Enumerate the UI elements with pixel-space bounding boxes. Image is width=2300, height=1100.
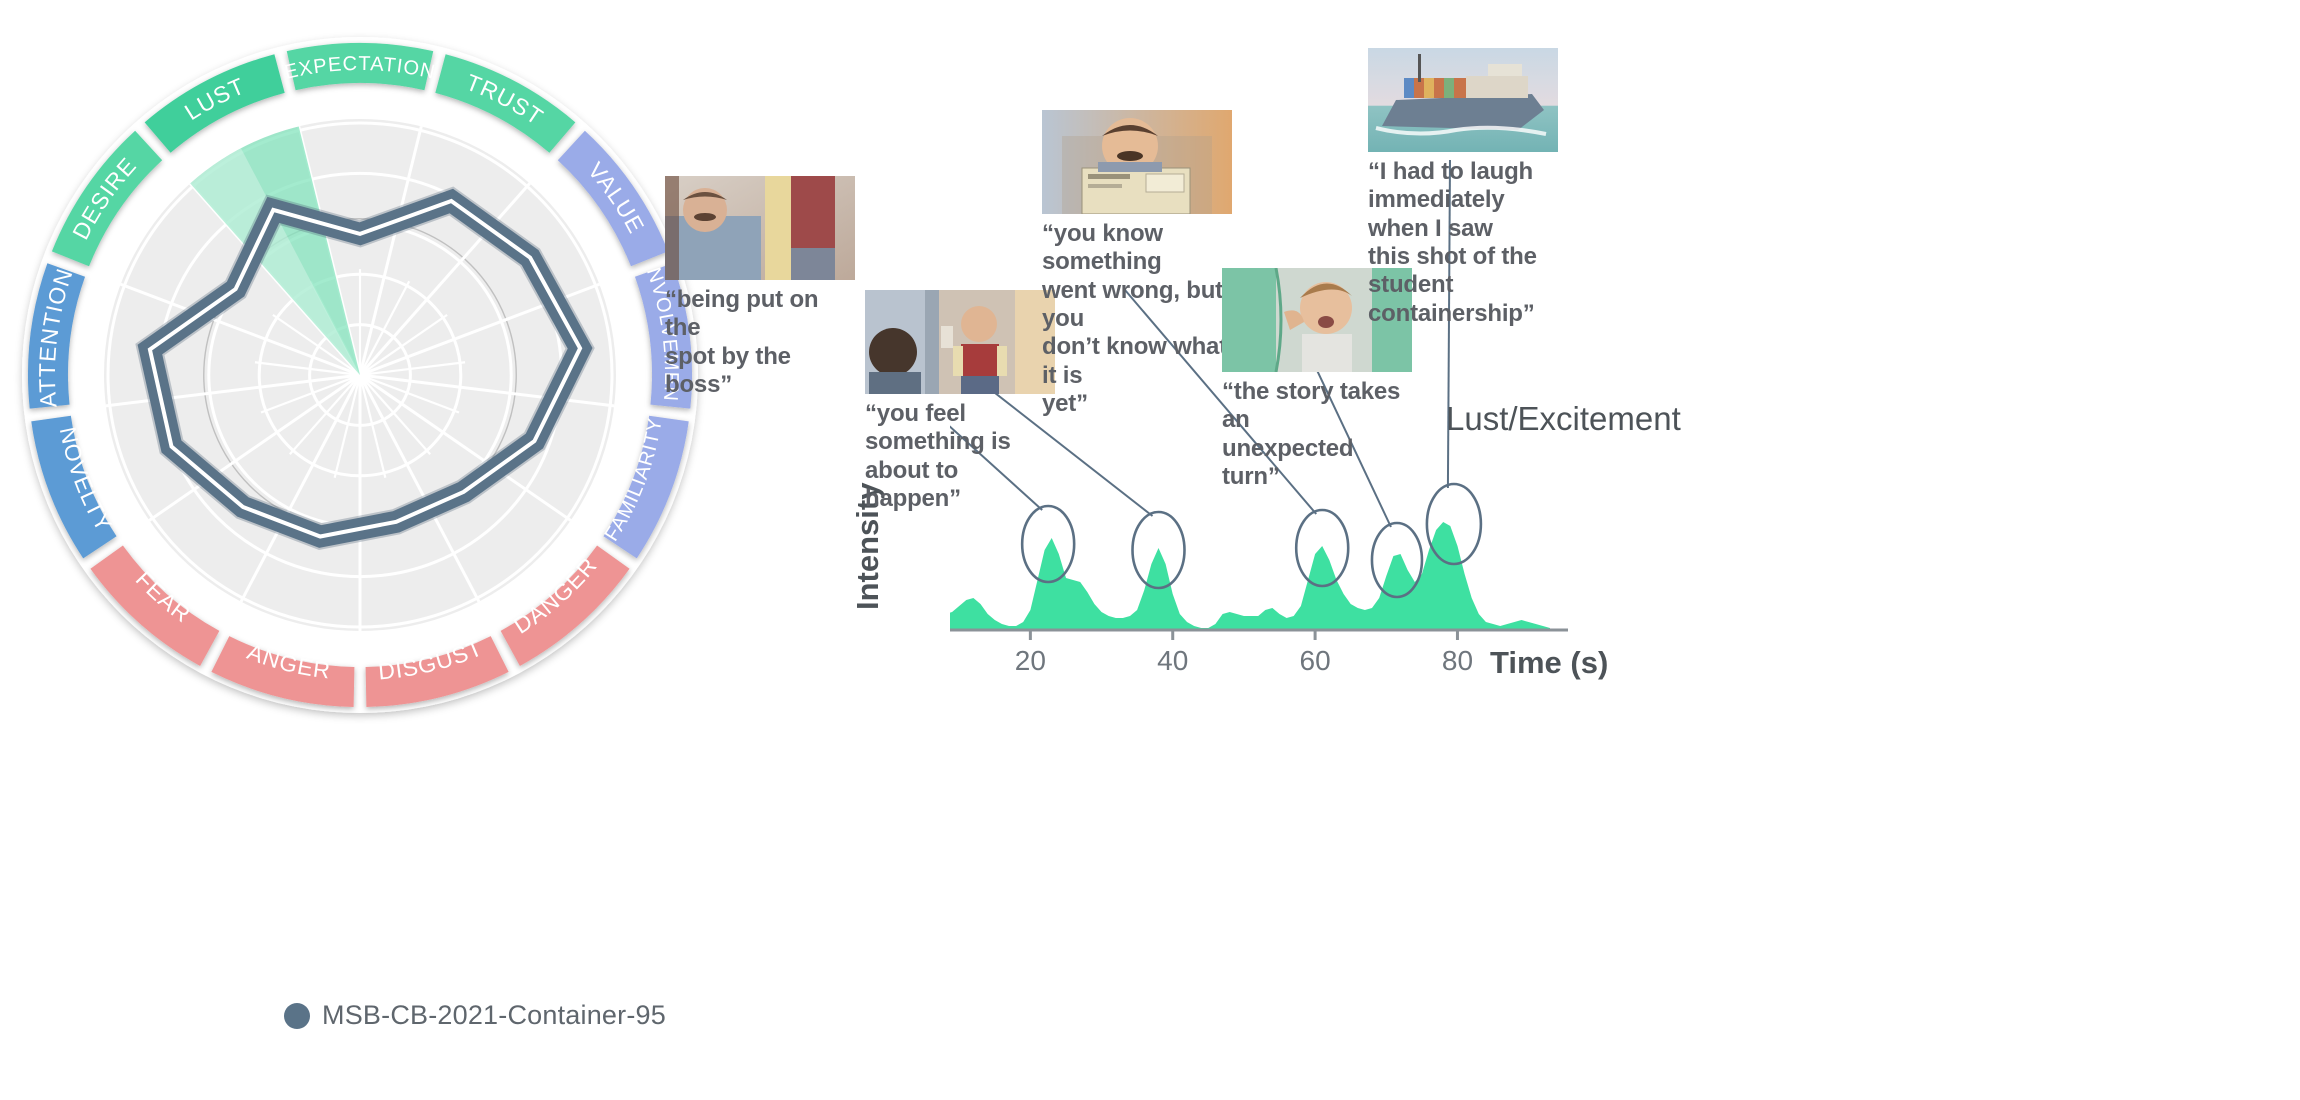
- callout-elevator[interactable]: “you feel something is about to happen”: [865, 290, 1055, 513]
- callout-boss[interactable]: “being put on the spot by the boss”: [665, 176, 855, 399]
- callout-boss-caption: “being put on the spot by the boss”: [665, 286, 855, 399]
- timeline-chart-panel: 020406080100020406080 Lust/Excitement Ti…: [950, 0, 2300, 1100]
- callout-ship-caption: “I had to laugh immediately when I saw t…: [1368, 158, 1558, 328]
- x-tick-label: 60: [1300, 645, 1331, 676]
- radar-legend: MSB-CB-2021-Container-95: [0, 1000, 950, 1031]
- chart-title: Lust/Excitement: [1446, 400, 1681, 438]
- thumb-ship-icon: [1368, 48, 1558, 152]
- callout-ship[interactable]: “I had to laugh immediately when I saw t…: [1368, 48, 1558, 328]
- callout-paperwork-caption: “you know something went wrong, but you …: [1042, 220, 1232, 418]
- radar-chart-panel: EXPECTATIONTRUSTVALUEINVOLVEMENTFAMILIAR…: [0, 0, 950, 1100]
- x-tick-label: 40: [1157, 645, 1188, 676]
- emotion-radar-chart: EXPECTATIONTRUSTVALUEINVOLVEMENTFAMILIAR…: [0, 0, 950, 1000]
- x-axis-label: Time (s): [1490, 645, 1608, 681]
- callout-paperwork[interactable]: “you know something went wrong, but you …: [1042, 110, 1232, 418]
- area-series: [950, 522, 1550, 630]
- legend-swatch: [284, 1003, 310, 1029]
- callout-elevator-caption: “you feel something is about to happen”: [865, 400, 1055, 513]
- legend-label: MSB-CB-2021-Container-95: [322, 1000, 666, 1031]
- x-tick-label: 20: [1015, 645, 1046, 676]
- thumb-elevator-icon: [865, 290, 1055, 394]
- callout-curtain-caption: “the story takes an unexpected turn”: [1222, 378, 1412, 491]
- thumb-paperwork-icon: [1042, 110, 1232, 214]
- x-tick-label: 80: [1442, 645, 1473, 676]
- thumb-boss-icon: [665, 176, 855, 280]
